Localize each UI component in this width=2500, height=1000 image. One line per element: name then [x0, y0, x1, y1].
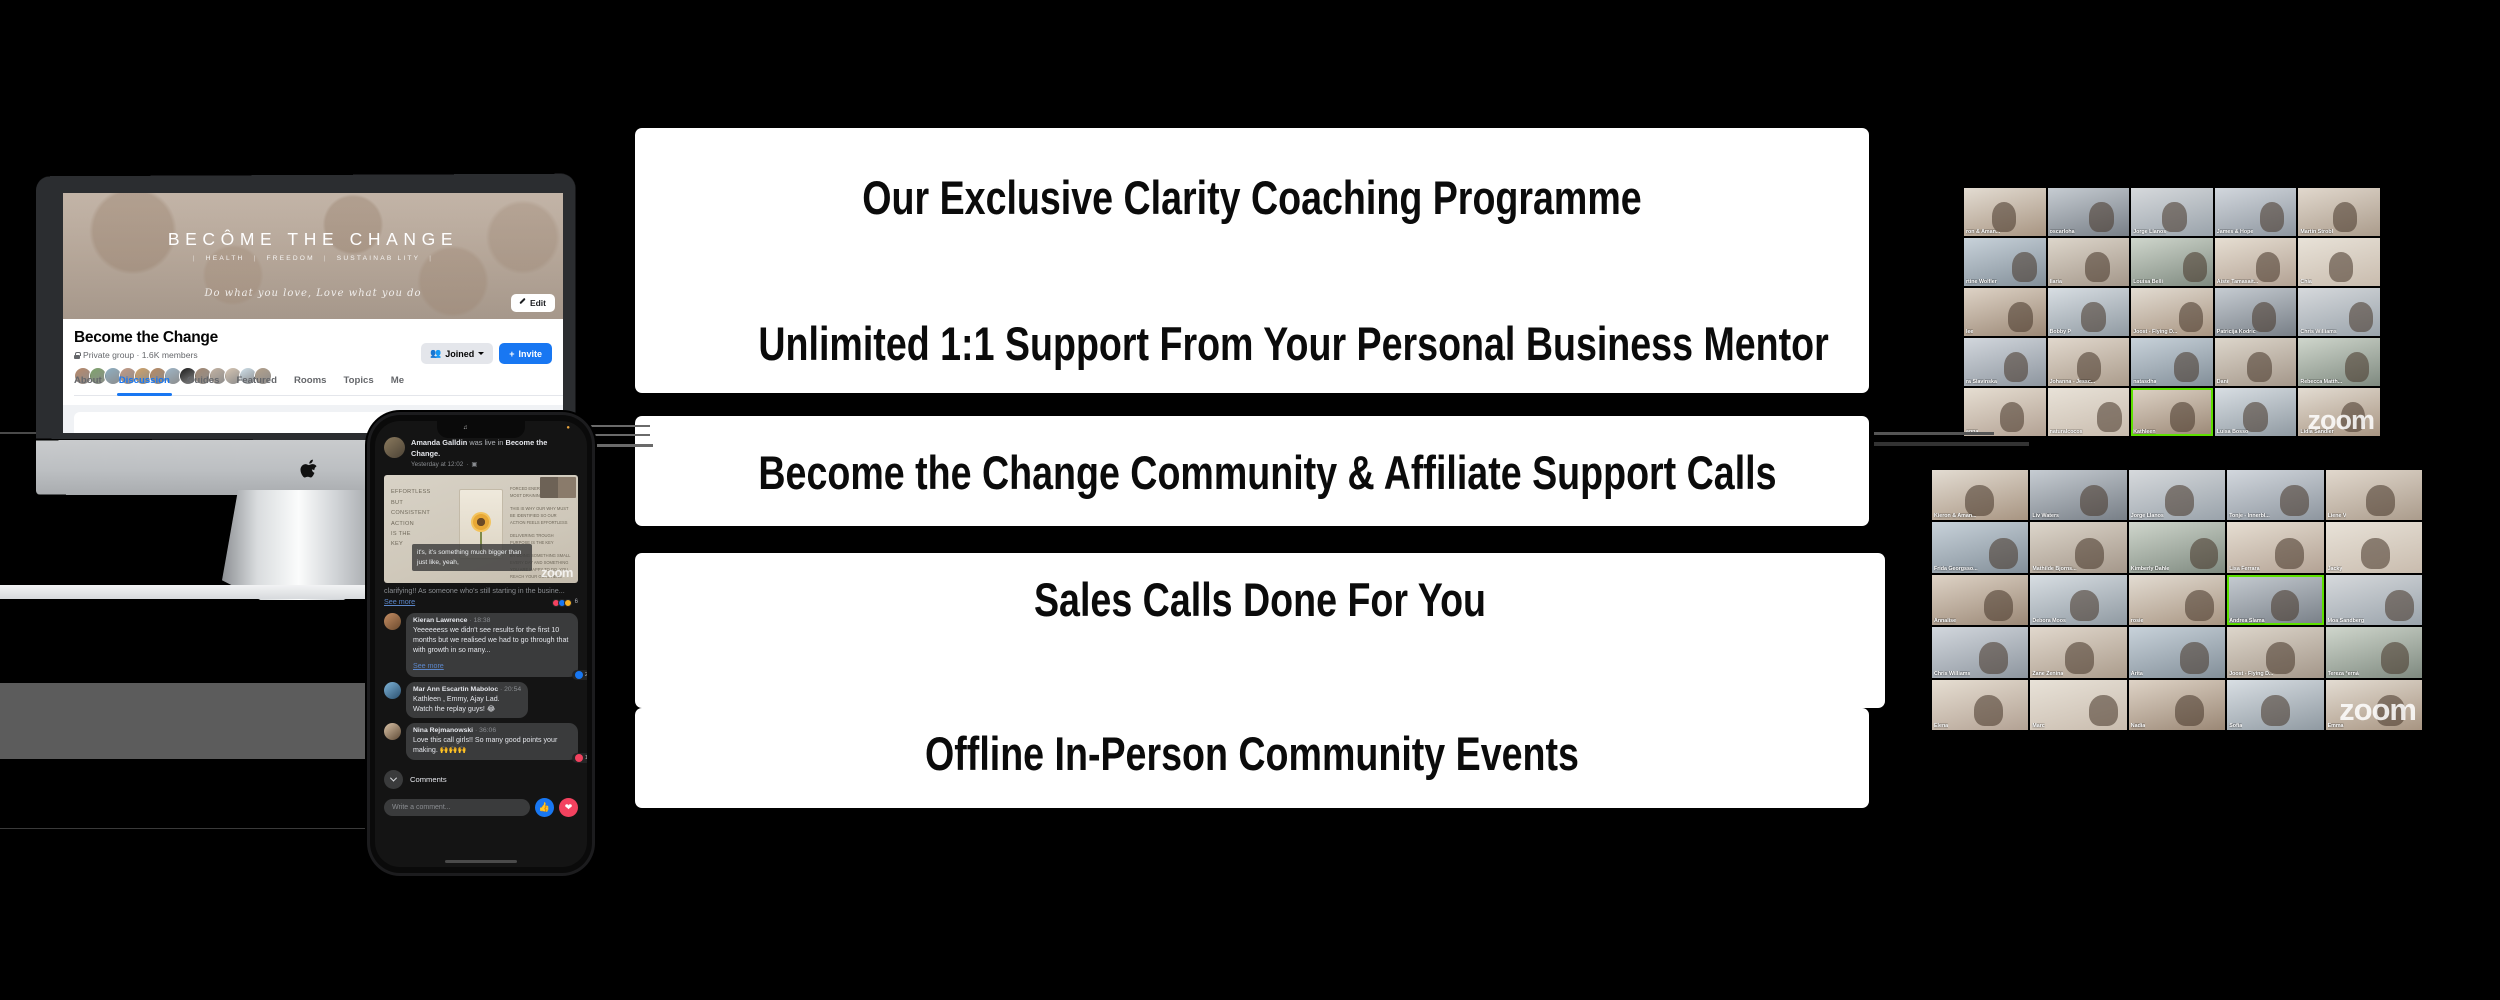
reaction-summary[interactable]: 6	[555, 598, 578, 607]
participant-name: lee	[1966, 329, 1973, 335]
participant-name: Tereza °erná	[2328, 671, 2359, 677]
comment-bubble: Kieran Lawrence · 18:38Yeeeeeess we didn…	[406, 613, 578, 677]
group-cover-photo: BECÔME THE CHANGE |HEALTH|FREEDOM|SUSTAI…	[63, 193, 563, 319]
zoom-participant-tile[interactable]: naturalcocos	[2048, 388, 2130, 436]
participant-name: Liene V	[2328, 513, 2347, 519]
zoom-participant-tile[interactable]: Liv Waters	[2030, 470, 2126, 520]
imac-foot	[0, 585, 393, 599]
participant-face	[2256, 252, 2280, 282]
presenter-thumbnail	[540, 477, 576, 498]
participant-face	[2366, 485, 2395, 516]
participant-name: Ilaria	[2050, 279, 2062, 285]
zoom-participant-tile[interactable]: Emma	[2326, 680, 2422, 730]
comment-list: Kieran Lawrence · 18:38Yeeeeeess we didn…	[375, 608, 587, 759]
zoom-participant-tile[interactable]: Patricija Kodric	[2215, 288, 2297, 336]
participant-name: Chris Williams	[2300, 329, 2336, 335]
reaction-count: 6	[575, 598, 578, 607]
decorative-line-lower	[0, 828, 367, 829]
participant-face	[2271, 590, 2300, 621]
joined-label: Joined	[445, 349, 474, 359]
participant-name: Andrea Slama	[2229, 618, 2264, 624]
participant-name: Bobby P	[2050, 329, 2071, 335]
participant-face	[2085, 252, 2109, 282]
zoom-participant-tile[interactable]: Rebecca Matth...	[2298, 338, 2380, 386]
participant-face	[2012, 252, 2036, 282]
participant-name: Joost - Flying D...	[2229, 671, 2273, 677]
post-text-preview: clarifying!! As someone who's still star…	[375, 583, 587, 608]
participant-face	[2089, 202, 2113, 232]
participant-name: Martin Strobl	[2300, 229, 2333, 235]
see-more-link[interactable]: See more	[384, 597, 415, 606]
zoom-participant-tile[interactable]: Debora Moos	[2030, 575, 2126, 625]
heart-icon[interactable]: ❤	[559, 798, 578, 817]
comment-text: Kathleen , Emmy, Ajay Lad. Watch the rep…	[413, 694, 521, 714]
participant-name: Dani	[2217, 379, 2228, 385]
comment-avatar[interactable]	[384, 613, 401, 630]
zoom-participant-tile[interactable]: Nadia	[2129, 680, 2225, 730]
participant-face	[2170, 402, 2194, 432]
participant-name: Jacky	[2328, 566, 2343, 572]
participant-name: Marc	[2032, 723, 2044, 729]
participant-face	[1974, 695, 2003, 726]
group-actions: 👥 Joined + Invite	[421, 343, 552, 364]
group-meta-label: Private group · 1.6K members	[83, 350, 198, 360]
participant-face	[2345, 352, 2369, 382]
zoom-participant-tile[interactable]: Ilaria	[2048, 238, 2130, 286]
comment-input[interactable]: Write a comment...	[384, 799, 530, 816]
participant-face	[2252, 302, 2276, 332]
zoom-participant-tile[interactable]: Joost - Flying D...	[2131, 288, 2213, 336]
zoom-participant-tile[interactable]: Luisa Bosso	[2215, 388, 2297, 436]
joined-button[interactable]: 👥 Joined	[421, 343, 493, 364]
cover-pillar-sustainability: SUSTAINAB LITY	[337, 255, 420, 262]
zoom-participant-tile[interactable]: Dani	[2215, 338, 2297, 386]
zoom-participant-tile[interactable]: Chia	[2298, 238, 2380, 286]
tab-guides[interactable]: Guides	[187, 375, 220, 386]
participant-face	[2089, 695, 2118, 726]
participant-name: Lidia Sandler	[2300, 429, 2333, 435]
participant-face	[2333, 202, 2357, 232]
participant-name: Debora Moos	[2032, 618, 2066, 624]
participant-name: Patricija Kodric	[2217, 329, 2256, 335]
participant-name: Emma	[2328, 723, 2344, 729]
participant-name: naturalcocos	[2050, 429, 2083, 435]
comments-label: Comments	[410, 775, 447, 784]
participant-name: Lisa Ferrara	[2229, 566, 2259, 572]
participant-face	[2183, 252, 2207, 282]
comment-avatar[interactable]	[384, 723, 401, 740]
participant-face	[2180, 642, 2209, 673]
invite-label: Invite	[518, 349, 542, 359]
participant-name: ra Slavinska	[1966, 379, 1997, 385]
chevron-down-icon[interactable]	[384, 770, 403, 789]
zoom-participant-tile[interactable]: Lisa Ferrara	[2227, 522, 2323, 572]
tab-about[interactable]: About	[74, 375, 102, 386]
invite-button[interactable]: + Invite	[499, 343, 552, 364]
zoom-participant-tile[interactable]: Joost - Flying D...	[2227, 627, 2323, 677]
participant-face	[2243, 402, 2267, 432]
chevron-down-icon	[478, 352, 484, 355]
participant-name: rtine Wolfler	[1966, 279, 1997, 285]
zoom-participant-tile[interactable]: Martin Strobl	[2298, 188, 2380, 236]
participant-face	[2260, 202, 2284, 232]
participant-name: Tonje - Innerbl...	[2229, 513, 2270, 519]
zoom-participant-tile[interactable]: Liene V	[2326, 470, 2422, 520]
zoom-participant-tile[interactable]: Annalise	[1932, 575, 2028, 625]
participant-name: Zane Zenina	[2032, 671, 2063, 677]
zoom-participant-tile[interactable]: Kieron & Aman...	[1932, 470, 2028, 520]
feature-label-events: Offline In-Person Community Events	[758, 730, 1745, 777]
decorative-line-right-a	[1874, 432, 1994, 435]
post-byline: Amanda Galldin was live in Become the Ch…	[411, 437, 578, 459]
participant-face	[2081, 302, 2105, 332]
participant-face	[2162, 202, 2186, 232]
members-icon: 👥	[430, 348, 441, 359]
comment-text: Yeeeeeess we didn't see results for the …	[413, 625, 571, 655]
tab-me[interactable]: Me	[391, 375, 404, 386]
phone-mockup: ♫ ● Amanda Galldin was live in Become th…	[370, 415, 592, 873]
comment-reaction-count: 1	[585, 755, 587, 761]
comment-bubble: Mar Ann Escartin Maboloc · 20:54Kathleen…	[406, 682, 528, 718]
participant-name: Frida Georgsso...	[1934, 566, 1978, 572]
comment-timestamp: · 36:06	[475, 727, 496, 734]
zoom-participant-tile[interactable]: Kimberly Dahle	[2129, 522, 2225, 572]
comment-reaction[interactable]: 1	[572, 753, 587, 763]
zoom-participant-tile[interactable]: rosie	[2129, 575, 2225, 625]
zoom-participant-tile[interactable]: anna	[1964, 388, 2046, 436]
live-caption: it's, it's something much bigger than ju…	[412, 544, 532, 572]
participant-face	[1984, 590, 2013, 621]
zoom-participant-tile[interactable]: Tereza °erná	[2326, 627, 2422, 677]
participant-name: Moa Sandberg	[2328, 618, 2365, 624]
heart-icon	[575, 754, 583, 762]
feature-card-community[interactable]: Become the Change Community & Affiliate …	[635, 416, 1869, 526]
zoom-participant-tile[interactable]: Kathleen	[2131, 388, 2213, 436]
participant-name: Mathilde Bjorns...	[2032, 566, 2076, 572]
participant-face	[2070, 590, 2099, 621]
zoom-participant-tile[interactable]: Moa Sandberg	[2326, 575, 2422, 625]
post-author-avatar[interactable]	[384, 437, 405, 458]
participant-face	[2376, 695, 2405, 726]
participant-face	[2075, 538, 2104, 569]
participant-face	[2185, 590, 2214, 621]
zoom-participant-tile[interactable]: Sofia	[2227, 680, 2323, 730]
post-tail-text: clarifying!! As someone who's still star…	[384, 586, 565, 595]
zoom-participant-tile[interactable]: Elena	[1932, 680, 2028, 730]
group-audience-icon: ▣	[471, 461, 477, 468]
comment-item[interactable]: Mar Ann Escartin Maboloc · 20:54Kathleen…	[375, 677, 587, 718]
zoom-participant-tile[interactable]: Chris Williams	[2298, 288, 2380, 336]
participant-name: Jorge Llanos	[2131, 513, 2164, 519]
participant-name: Rebecca Matth...	[2300, 379, 2342, 385]
comment-item[interactable]: Nina Rejmanowski · 36:06Love this call g…	[375, 718, 587, 759]
zoom-participant-tile[interactable]: Mathilde Bjorns...	[2030, 522, 2126, 572]
comment-reaction[interactable]: 2	[572, 670, 587, 680]
pencil-icon	[518, 299, 526, 307]
cover-title: BECÔME THE CHANGE	[63, 229, 563, 250]
participant-face	[2065, 642, 2094, 673]
decorative-line-right-b	[1874, 442, 2029, 446]
zoom-participant-tile[interactable]: Johanna - Jessc...	[2048, 338, 2130, 386]
participant-name: Louisa Belli	[2133, 279, 2163, 285]
participant-name: Liv Waters	[2032, 513, 2059, 519]
zoom-participant-tile[interactable]: Jacky	[2326, 522, 2422, 572]
cover-quote: Do what you love, Love what you do	[63, 288, 563, 299]
feature-card-sales[interactable]: Sales Calls Done For You	[635, 553, 1885, 708]
participant-face	[2261, 695, 2290, 726]
feature-label-community: Become the Change Community & Affiliate …	[758, 449, 1745, 496]
comment-timestamp: · 18:38	[469, 617, 490, 624]
imac-stand	[222, 490, 382, 600]
edit-cover-label: Edit	[530, 298, 546, 308]
zoom-participant-tile[interactable]: Tonje - Innerbl...	[2227, 470, 2323, 520]
status-dot-icon: ●	[566, 425, 570, 431]
participant-face	[2361, 538, 2390, 569]
zoom-participant-tile[interactable]: natasdha	[2131, 338, 2213, 386]
tab-discussion[interactable]: Discussion	[119, 375, 170, 386]
zoom-call-grid-bottom[interactable]: zoom Kieron & Aman...Liv WatersJorge Lla…	[1932, 470, 2422, 730]
zoom-participant-tile[interactable]: oscarloha	[2048, 188, 2130, 236]
post-action-label: was live in	[469, 438, 503, 447]
zoom-call-grid-top[interactable]: zoom ron & Aman...oscarlohaJorge LlanosJ…	[1964, 188, 2380, 436]
participant-name: Kathleen	[2133, 429, 2155, 435]
participant-name: oscarloha	[2050, 229, 2075, 235]
cover-pillar-health: HEALTH	[206, 255, 245, 262]
decorative-line-connector-c	[595, 444, 653, 447]
feature-card-events[interactable]: Offline In-Person Community Events	[635, 708, 1869, 808]
zoom-participant-tile[interactable]: Andrea Slama	[2227, 575, 2323, 625]
participant-name: Jorge Llanos	[2133, 229, 2166, 235]
participant-name: James & Hope	[2217, 229, 2254, 235]
cover-pillars: |HEALTH|FREEDOM|SUSTAINAB LITY|	[63, 255, 563, 262]
zoom-participant-tile[interactable]: Arita	[2129, 627, 2225, 677]
zoom-participant-tile[interactable]: James & Hope	[2215, 188, 2297, 236]
post-author-name[interactable]: Amanda Galldin	[411, 438, 467, 447]
participant-face	[2381, 642, 2410, 673]
zoom-participant-tile[interactable]: Jorge Llanos	[2129, 470, 2225, 520]
zoom-participant-tile[interactable]: Lidia Sandler	[2298, 388, 2380, 436]
comment-bubble: Nina Rejmanowski · 36:06Love this call g…	[406, 723, 578, 759]
participant-face	[1989, 538, 2018, 569]
participant-face	[2179, 302, 2203, 332]
cover-pillar-freedom: FREEDOM	[266, 255, 314, 262]
plus-icon: +	[509, 349, 514, 359]
participant-face	[2329, 252, 2353, 282]
tab-rooms[interactable]: Rooms	[294, 375, 327, 386]
zoom-participant-tile[interactable]: Bobby P	[2048, 288, 2130, 336]
participant-name: Joost - Flying D...	[2133, 329, 2177, 335]
zoom-participant-tile[interactable]: Marc	[2030, 680, 2126, 730]
comment-text: Love this call girls!! So many good poin…	[413, 735, 571, 755]
participant-face	[1965, 485, 1994, 516]
media-left-text: EFFORTLESS BUT CONSISTENT ACTION IS THE …	[391, 487, 431, 549]
participant-name: Johanna - Jessc...	[2050, 379, 2096, 385]
participant-name: Nadia	[2131, 723, 2145, 729]
comment-author[interactable]: Mar Ann Escartin Maboloc · 20:54	[413, 686, 521, 693]
comment-author[interactable]: Nina Rejmanowski · 36:06	[413, 727, 571, 734]
participant-name: Aiste Tamasait...	[2217, 279, 2258, 285]
group-tab-bar: AboutDiscussionGuidesFeaturedRoomsTopics…	[74, 375, 563, 396]
participant-face	[2080, 485, 2109, 516]
post-timestamp-row: Yesterday at 12:02 · ▣	[411, 461, 578, 468]
participant-name: rosie	[2131, 618, 2144, 624]
phone-screen: ♫ ● Amanda Galldin was live in Become th…	[375, 421, 587, 867]
zoom-participant-tile[interactable]: Aiste Tamasait...	[2215, 238, 2297, 286]
participant-face	[2077, 352, 2101, 382]
zoom-participant-tile[interactable]: Frida Georgsso...	[1932, 522, 2028, 572]
participant-face	[2349, 302, 2373, 332]
participant-face	[2097, 402, 2121, 432]
participant-face	[2165, 485, 2194, 516]
comments-toggle[interactable]: Comments	[375, 760, 587, 789]
feature-label-mentor: Unlimited 1:1 Support From Your Personal…	[758, 320, 1745, 367]
edit-cover-button[interactable]: Edit	[511, 294, 555, 312]
participant-name: Sofia	[2229, 723, 2242, 729]
tab-topics[interactable]: Topics	[343, 375, 373, 386]
apple-logo	[300, 458, 320, 481]
participant-face	[2000, 402, 2024, 432]
participant-name: natasdha	[2133, 379, 2156, 385]
post-timestamp: Yesterday at 12:02	[411, 461, 463, 468]
status-bar-icon: ♫	[463, 425, 468, 431]
media-text-block-1: THIS IS WHY OUR WHY MUST BE IDENTIFIED S…	[510, 506, 572, 527]
lock-icon	[74, 352, 80, 359]
thumbs-up-icon	[575, 671, 583, 679]
zoom-participant-tile[interactable]: ra Slavinska	[1964, 338, 2046, 386]
participant-name: Luisa Bosso	[2217, 429, 2249, 435]
comment-author[interactable]: Kieran Lawrence · 18:38	[413, 617, 571, 624]
post-media[interactable]: EFFORTLESS BUT CONSISTENT ACTION IS THE …	[384, 475, 578, 583]
zoom-participant-tile[interactable]: Jorge Llanos	[2131, 188, 2213, 236]
thumbs-up-icon[interactable]: 👍	[535, 798, 554, 817]
participant-face	[2004, 352, 2028, 382]
participant-face	[1992, 202, 2016, 232]
participant-face	[2008, 302, 2032, 332]
participant-name: ron & Aman...	[1966, 229, 2000, 235]
zoom-participant-tile[interactable]: Chris Williams	[1932, 627, 2028, 677]
zoom-participant-tile[interactable]: ron & Aman...	[1964, 188, 2046, 236]
comment-item[interactable]: Kieran Lawrence · 18:38Yeeeeeess we didn…	[375, 608, 587, 677]
participant-name: Chia	[2300, 279, 2311, 285]
feature-label-sales: Sales Calls Done For You	[760, 576, 1760, 623]
participant-face	[2385, 590, 2414, 621]
feature-label-clarity: Our Exclusive Clarity Coaching Programme	[758, 174, 1745, 221]
facebook-group-page: BECÔME THE CHANGE |HEALTH|FREEDOM|SUSTAI…	[63, 193, 563, 433]
see-more-link[interactable]: See more	[413, 662, 444, 670]
comment-avatar[interactable]	[384, 682, 401, 699]
participant-face	[2175, 695, 2204, 726]
participant-name: Elena	[1934, 723, 1948, 729]
participant-face	[2341, 402, 2365, 432]
participant-name: Arita	[2131, 671, 2143, 677]
zoom-participant-tile[interactable]: lee	[1964, 288, 2046, 336]
comment-composer: Write a comment... 👍 ❤	[375, 789, 587, 817]
zoom-participant-tile[interactable]: rtine Wolfler	[1964, 238, 2046, 286]
phone-notch	[437, 421, 525, 438]
participant-face	[2190, 538, 2219, 569]
participant-face	[2275, 538, 2304, 569]
feature-card-clarity[interactable]: Our Exclusive Clarity Coaching Programme…	[635, 128, 1869, 393]
participant-name: Chris Williams	[1934, 671, 1970, 677]
comment-reaction-count: 2	[585, 672, 587, 678]
home-indicator	[445, 860, 517, 863]
zoom-participant-tile[interactable]: Zane Zenina	[2030, 627, 2126, 677]
participant-face	[1979, 642, 2008, 673]
zoom-participant-tile[interactable]: Louisa Belli	[2131, 238, 2213, 286]
participant-face	[2247, 352, 2271, 382]
participant-name: Kieron & Aman...	[1934, 513, 1976, 519]
tab-featured[interactable]: Featured	[236, 375, 277, 386]
participant-name: Annalise	[1934, 618, 1956, 624]
participant-face	[2174, 352, 2198, 382]
participant-face	[2266, 642, 2295, 673]
care-icon	[564, 599, 572, 607]
zoom-watermark: zoom	[541, 565, 573, 580]
participant-face	[2280, 485, 2309, 516]
comment-timestamp: · 20:54	[500, 686, 521, 693]
participant-name: Kimberly Dahle	[2131, 566, 2170, 572]
